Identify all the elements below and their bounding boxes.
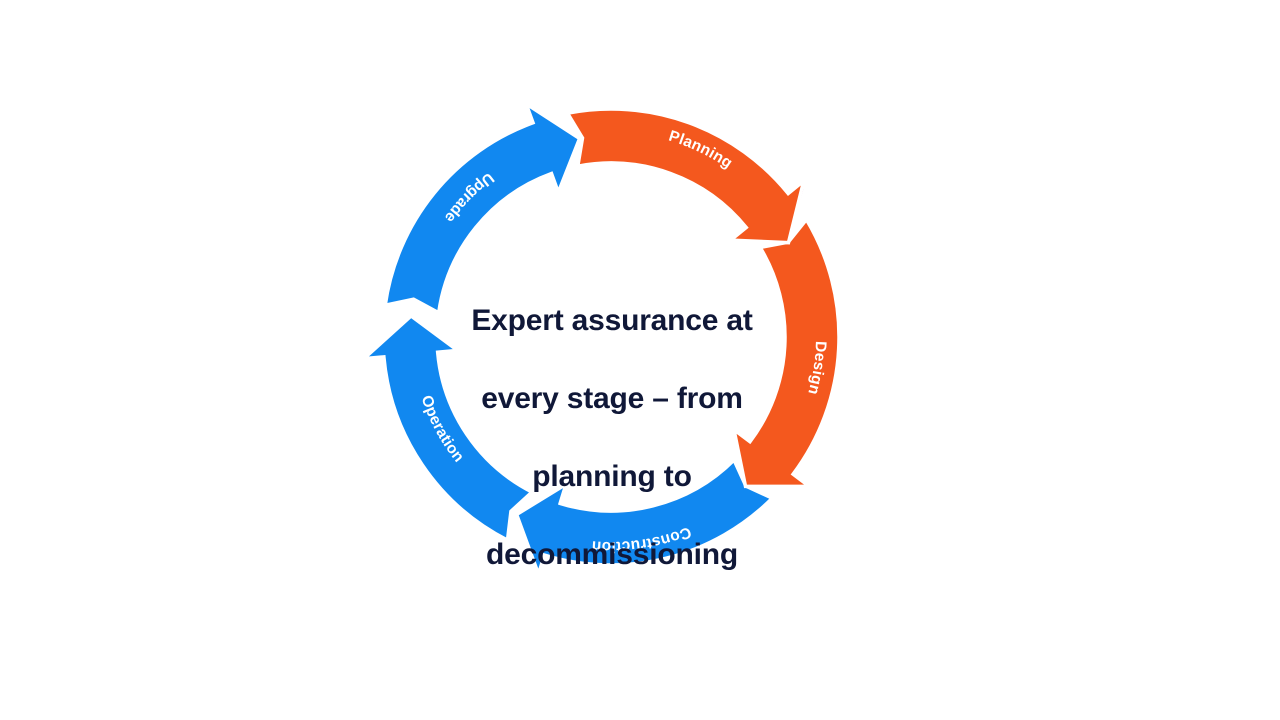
- center-headline: Expert assurance at every stage – from p…: [452, 262, 772, 613]
- center-headline-line-2: every stage – from: [452, 379, 772, 418]
- diagram-canvas: Decommissioning Upgrade Operation Constr…: [0, 0, 1280, 720]
- center-headline-line-1: Expert assurance at: [452, 301, 772, 340]
- segment-planning[interactable]: Planning: [568, 109, 804, 243]
- center-headline-line-3: planning to: [452, 457, 772, 496]
- center-headline-line-4: decommissioning: [452, 535, 772, 574]
- segment-planning-shape[interactable]: [568, 109, 804, 243]
